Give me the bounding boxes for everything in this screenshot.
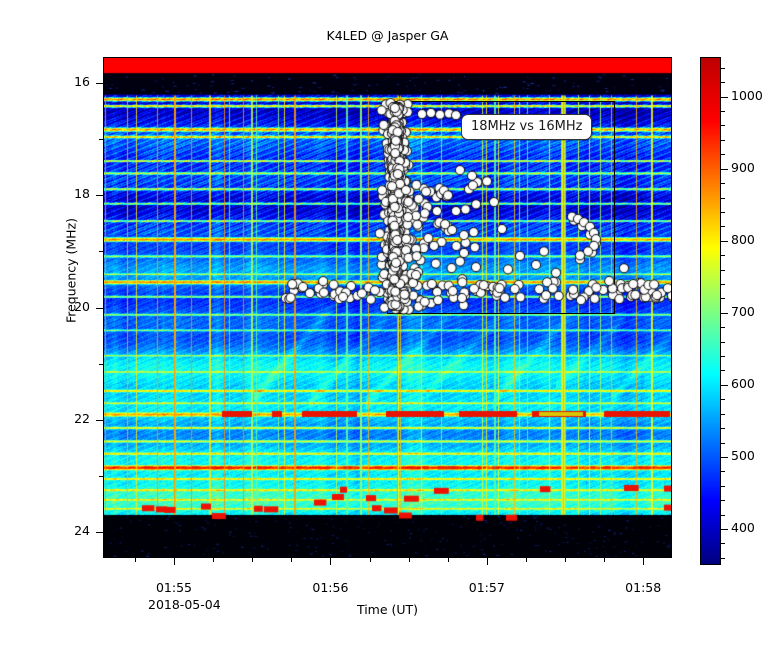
colorbar-tick-minor — [721, 471, 725, 472]
y-tick-label-20: 20 — [74, 299, 90, 314]
x-tick-minor — [252, 558, 253, 562]
x-tick-label-0157: 01:57 — [469, 580, 505, 595]
colorbar-tick-minor — [721, 82, 725, 83]
colorbar-tick-label-800: 800 — [731, 232, 755, 247]
x-tick-minor — [291, 558, 292, 562]
x-tick-minor — [409, 558, 410, 562]
colorbar-tick-minor — [721, 270, 725, 271]
y-axis-label: Frequency (MHz) — [64, 191, 79, 351]
colorbar-tick-label-900: 900 — [731, 160, 755, 175]
colorbar-tick-minor — [721, 284, 725, 285]
y-tick-24 — [96, 83, 103, 84]
colorbar-tick-400 — [721, 529, 728, 530]
x-tick-minor — [565, 558, 566, 562]
figure-canvas: K4LED @ Jasper GA 18MHz vs 16MHz Frequen… — [0, 0, 783, 656]
colorbar-tick-minor — [721, 500, 725, 501]
x-tick-0156 — [330, 558, 331, 565]
colorbar-tick-label-500: 500 — [731, 448, 755, 463]
x-tick-minor — [213, 558, 214, 562]
colorbar-tick-minor — [721, 428, 725, 429]
colorbar-tick-label-400: 400 — [731, 520, 755, 535]
colorbar-tick-minor — [721, 543, 725, 544]
colorbar-tick-minor — [721, 327, 725, 328]
x-tick-minor — [370, 558, 371, 562]
colorbar-tick-minor — [721, 212, 725, 213]
x-tick-0158 — [643, 558, 644, 565]
colorbar-tick-minor — [721, 414, 725, 415]
x-tick-minor — [135, 558, 136, 562]
colorbar-gradient — [701, 58, 720, 564]
y-tick-18 — [96, 420, 103, 421]
colorbar-tick-minor — [721, 298, 725, 299]
colorbar-tick-minor — [721, 399, 725, 400]
colorbar-tick-500 — [721, 457, 728, 458]
x-tick-label-0156: 01:56 — [312, 580, 348, 595]
colorbar-tick-800 — [721, 241, 728, 242]
annotation-label: 18MHz vs 16MHz — [461, 114, 592, 140]
y-tick-label-22: 18 — [74, 186, 90, 201]
y-tick-minor-19 — [99, 364, 103, 365]
y-tick-minor-23 — [99, 139, 103, 140]
x-tick-0157 — [487, 558, 488, 565]
colorbar — [700, 57, 721, 565]
colorbar-tick-minor — [721, 558, 725, 559]
x-tick-label-0155: 01:55 — [156, 580, 192, 595]
x-tick-minor — [604, 558, 605, 562]
colorbar-tick-minor — [721, 255, 725, 256]
x-tick-minor — [448, 558, 449, 562]
y-tick-minor-21 — [99, 251, 103, 252]
colorbar-tick-minor — [721, 111, 725, 112]
colorbar-tick-minor — [721, 370, 725, 371]
colorbar-tick-label-700: 700 — [731, 304, 755, 319]
y-tick-label-18: 22 — [74, 411, 90, 426]
y-tick-22 — [96, 195, 103, 196]
colorbar-tick-minor — [721, 68, 725, 69]
colorbar-tick-minor — [721, 183, 725, 184]
x-tick-label-0158: 01:58 — [625, 580, 661, 595]
colorbar-tick-minor — [721, 486, 725, 487]
y-tick-minor-17 — [99, 476, 103, 477]
colorbar-tick-minor — [721, 356, 725, 357]
x-tick-minor — [526, 558, 527, 562]
colorbar-tick-minor — [721, 443, 725, 444]
x-axis-date-label: 2018-05-04 — [148, 597, 221, 612]
colorbar-tick-label-600: 600 — [731, 376, 755, 391]
y-tick-label-24: 16 — [74, 74, 90, 89]
colorbar-tick-1000 — [721, 97, 728, 98]
colorbar-tick-900 — [721, 169, 728, 170]
y-tick-20 — [96, 308, 103, 309]
colorbar-tick-minor — [721, 226, 725, 227]
colorbar-tick-label-1000: 1000 — [731, 88, 763, 103]
x-tick-0155 — [174, 558, 175, 565]
colorbar-tick-minor — [721, 154, 725, 155]
colorbar-tick-600 — [721, 385, 728, 386]
chart-title: K4LED @ Jasper GA — [103, 28, 672, 43]
y-tick-label-16: 24 — [74, 523, 90, 538]
y-tick-16 — [96, 532, 103, 533]
colorbar-tick-700 — [721, 313, 728, 314]
colorbar-tick-minor — [721, 125, 725, 126]
colorbar-tick-minor — [721, 342, 725, 343]
colorbar-tick-minor — [721, 140, 725, 141]
colorbar-tick-minor — [721, 515, 725, 516]
colorbar-tick-minor — [721, 198, 725, 199]
